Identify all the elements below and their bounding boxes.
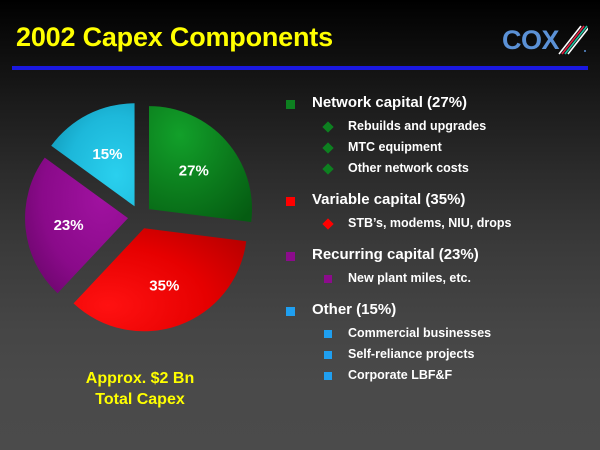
pie-slice-label: 15% (92, 146, 122, 163)
bullet-subitem-label: Rebuilds and upgrades (348, 119, 486, 133)
square-bullet-icon (286, 252, 295, 261)
bullet-heading-label: Recurring capital (23%) (312, 246, 479, 263)
square-subbullet-icon (324, 351, 332, 359)
square-bullet-icon (286, 307, 295, 316)
diamond-subbullet-icon (322, 142, 333, 153)
bullet-group: Other (15%)Commercial businessesSelf-rel… (282, 299, 594, 386)
diamond-subbullet-icon (322, 163, 333, 174)
diamond-subbullet-icon (322, 218, 333, 229)
total-capex-label: Approx. $2 Bn Total Capex (40, 368, 240, 410)
bullet-sublist: STB’s, modems, NIU, drops (282, 213, 594, 234)
pie-slice-label: 27% (179, 163, 209, 180)
bullet-subitem[interactable]: STB’s, modems, NIU, drops (282, 213, 594, 234)
diamond-subbullet-icon (322, 121, 333, 132)
square-subbullet-icon (324, 372, 332, 380)
bullet-heading-label: Network capital (27%) (312, 94, 467, 111)
bullet-subitem-label: Commercial businesses (348, 326, 491, 340)
bullet-subitem[interactable]: Self-reliance projects (282, 344, 594, 365)
cox-logo-icon: COX (502, 24, 588, 58)
bullet-heading[interactable]: Recurring capital (23%) (282, 244, 594, 266)
bullet-subitem[interactable]: Commercial businesses (282, 323, 594, 344)
bullet-group: Network capital (27%)Rebuilds and upgrad… (282, 92, 594, 179)
bullet-sublist: New plant miles, etc. (282, 268, 594, 289)
title-divider (12, 66, 588, 70)
bullet-heading-label: Other (15%) (312, 301, 396, 318)
total-capex-line1: Approx. $2 Bn (40, 368, 240, 389)
bullet-sublist: Commercial businessesSelf-reliance proje… (282, 323, 594, 386)
bullet-subitem[interactable]: MTC equipment (282, 137, 594, 158)
bullet-subitem[interactable]: New plant miles, etc. (282, 268, 594, 289)
bullet-subitem[interactable]: Rebuilds and upgrades (282, 116, 594, 137)
bullet-heading[interactable]: Network capital (27%) (282, 92, 594, 114)
bullet-sublist: Rebuilds and upgradesMTC equipmentOther … (282, 116, 594, 179)
bullet-subitem-label: Self-reliance projects (348, 347, 474, 361)
square-subbullet-icon (324, 330, 332, 338)
pie-slice-label: 23% (54, 217, 84, 234)
pie-chart: 27%35%23%15% (0, 90, 280, 360)
total-capex-line2: Total Capex (40, 389, 240, 410)
cox-logo: COX (502, 24, 588, 58)
page-title: 2002 Capex Components (16, 22, 333, 53)
bullet-subitem-label: Corporate LBF&F (348, 368, 452, 382)
bullet-group: Variable capital (35%)STB’s, modems, NIU… (282, 189, 594, 234)
svg-text:COX: COX (502, 25, 560, 55)
square-bullet-icon (286, 100, 295, 109)
bullet-list: Network capital (27%)Rebuilds and upgrad… (282, 92, 594, 396)
pie-slice-label: 35% (149, 277, 179, 294)
bullet-subitem-label: STB’s, modems, NIU, drops (348, 216, 511, 230)
slide-canvas: 2002 Capex Components COX (0, 0, 600, 450)
bullet-subitem-label: Other network costs (348, 161, 469, 175)
bullet-subitem-label: MTC equipment (348, 140, 442, 154)
pie-chart-svg: 27%35%23%15% (0, 90, 280, 360)
bullet-group: Recurring capital (23%)New plant miles, … (282, 244, 594, 289)
bullet-subitem[interactable]: Other network costs (282, 158, 594, 179)
bullet-heading[interactable]: Other (15%) (282, 299, 594, 321)
bullet-heading-label: Variable capital (35%) (312, 191, 465, 208)
bullet-subitem-label: New plant miles, etc. (348, 271, 471, 285)
square-subbullet-icon (324, 275, 332, 283)
bullet-subitem[interactable]: Corporate LBF&F (282, 365, 594, 386)
square-bullet-icon (286, 197, 295, 206)
bullet-heading[interactable]: Variable capital (35%) (282, 189, 594, 211)
